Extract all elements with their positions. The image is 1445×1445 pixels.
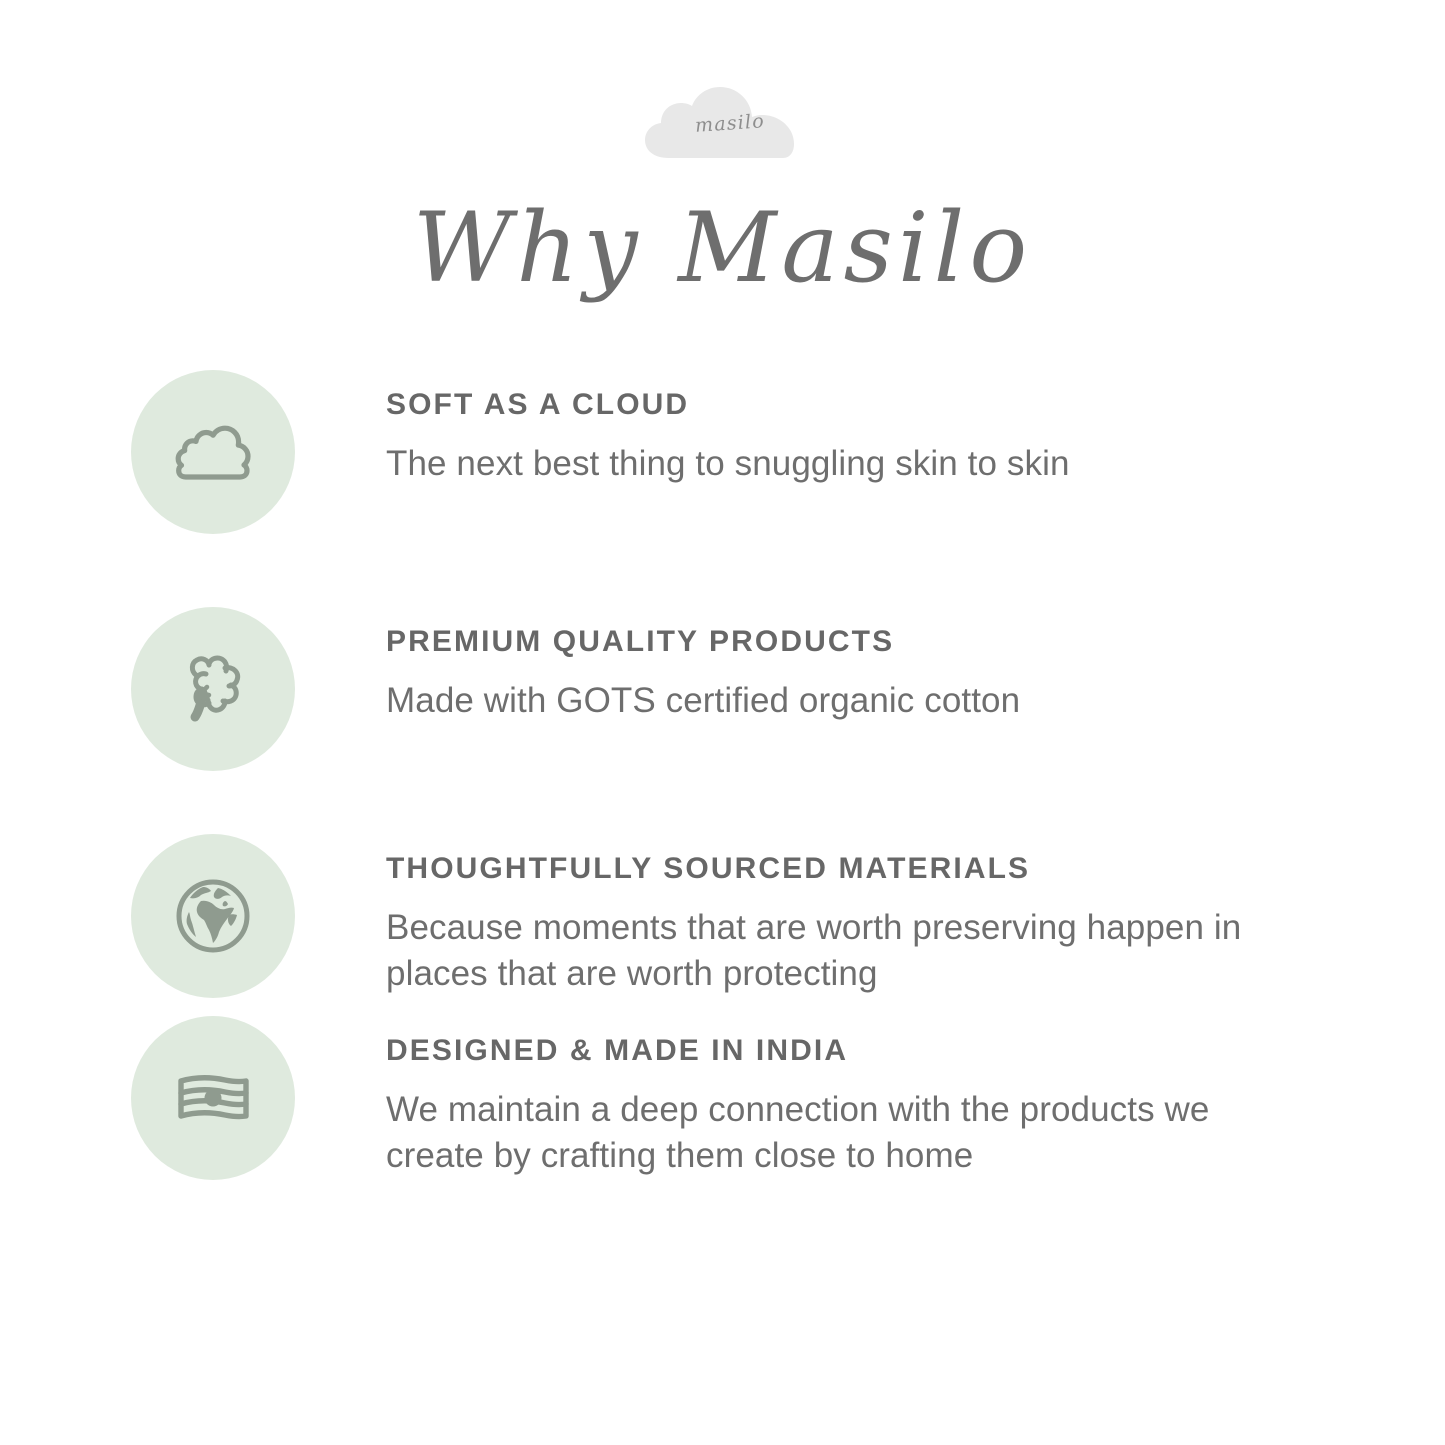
feature-icon-badge xyxy=(131,1016,295,1180)
feature-row-soft-as-a-cloud: SOFT AS A CLOUD The next best thing to s… xyxy=(0,370,1445,534)
india-flag-icon xyxy=(165,1050,261,1146)
feature-text-block: THOUGHTFULLY SOURCED MATERIALS Because m… xyxy=(295,834,1255,997)
feature-icon-badge xyxy=(131,370,295,534)
cotton-boll-icon xyxy=(165,641,261,737)
page-title: Why Masilo xyxy=(0,186,1445,311)
feature-title: THOUGHTFULLY SOURCED MATERIALS xyxy=(386,852,1255,885)
feature-row-designed-made-in-india: DESIGNED & MADE IN INDIA We maintain a d… xyxy=(0,1016,1445,1180)
feature-title: SOFT AS A CLOUD xyxy=(386,388,1070,421)
feature-row-thoughtfully-sourced-materials: THOUGHTFULLY SOURCED MATERIALS Because m… xyxy=(0,834,1445,998)
feature-description: The next best thing to snuggling skin to… xyxy=(386,441,1070,487)
cloud-icon xyxy=(165,404,261,500)
feature-text-block: SOFT AS A CLOUD The next best thing to s… xyxy=(295,370,1070,487)
feature-list: SOFT AS A CLOUD The next best thing to s… xyxy=(0,370,1445,1180)
feature-description: We maintain a deep connection with the p… xyxy=(386,1087,1255,1179)
feature-row-premium-quality-products: PREMIUM QUALITY PRODUCTS Made with GOTS … xyxy=(0,607,1445,771)
brand-logo[interactable]: masilo xyxy=(0,78,1445,170)
feature-text-block: DESIGNED & MADE IN INDIA We maintain a d… xyxy=(295,1016,1255,1179)
feature-text-block: PREMIUM QUALITY PRODUCTS Made with GOTS … xyxy=(295,607,1020,724)
feature-icon-badge xyxy=(131,834,295,998)
feature-title: PREMIUM QUALITY PRODUCTS xyxy=(386,625,1020,658)
feature-icon-badge xyxy=(131,607,295,771)
feature-description: Because moments that are worth preservin… xyxy=(386,905,1255,997)
logo-container: masilo xyxy=(639,78,807,170)
feature-description: Made with GOTS certified organic cotton xyxy=(386,678,1020,724)
logo-wordmark: masilo xyxy=(635,72,809,175)
globe-icon xyxy=(165,868,261,964)
feature-title: DESIGNED & MADE IN INDIA xyxy=(386,1034,1255,1067)
